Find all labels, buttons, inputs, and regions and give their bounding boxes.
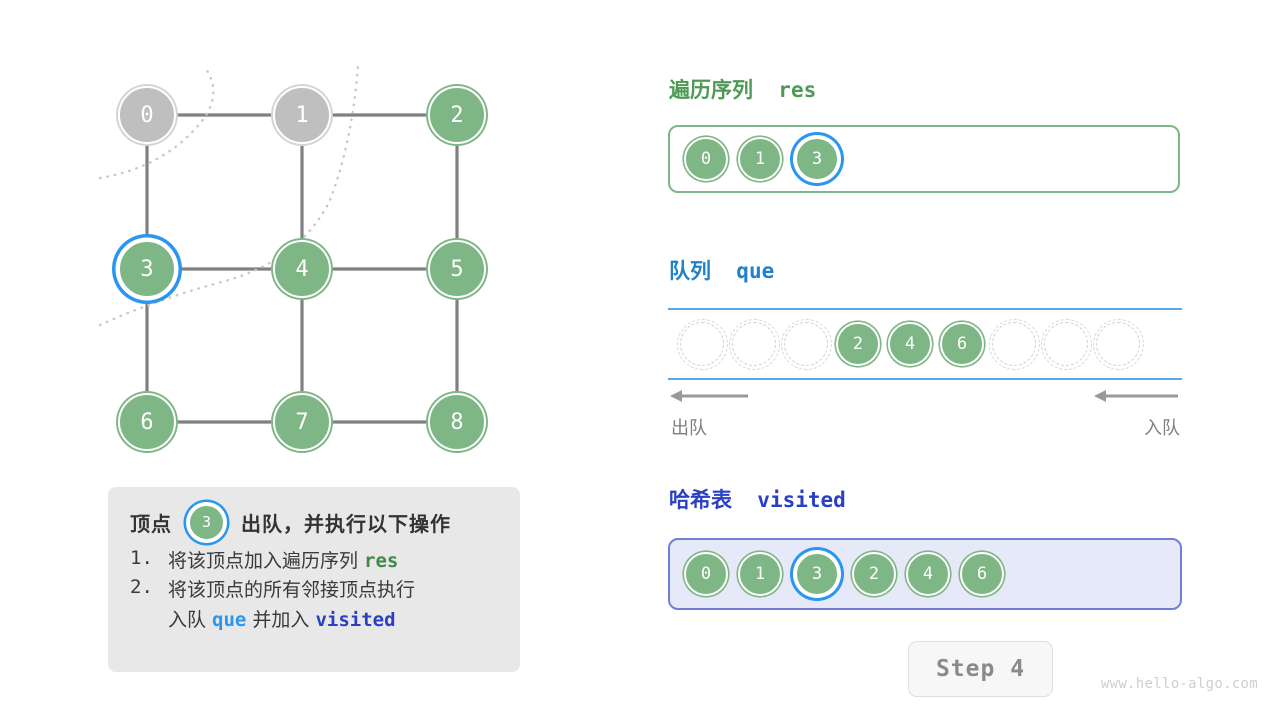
enqueue-arrow-icon (1092, 386, 1182, 406)
queue-slot-7 (1044, 322, 1088, 366)
res-title-cn: 遍历序列 (669, 78, 753, 102)
graph-panel: 012345678 (0, 0, 620, 500)
caption-step-1-number: 1. (130, 547, 168, 576)
code-token-res: res (364, 550, 398, 572)
caption-step-2-line2-a: 入队 (168, 609, 212, 631)
caption-step-2-text: 将该顶点的所有邻接顶点执行入队 que 并加入 visited (168, 576, 415, 635)
visited-title-code-text: visited (757, 488, 846, 512)
visited-title-gap (732, 488, 757, 512)
visited-item-3: 2 (852, 552, 896, 596)
graph-node-6[interactable]: 6 (118, 393, 176, 451)
queue-slot-0 (680, 322, 724, 366)
res-section-title: 遍历序列 res (669, 74, 816, 104)
caption-step-2-number: 2. (130, 576, 168, 635)
graph-node-5[interactable]: 5 (428, 240, 486, 298)
visited-item-4: 4 (906, 552, 950, 596)
queue-slot-2 (784, 322, 828, 366)
graph-node-4[interactable]: 4 (273, 240, 331, 298)
graph-node-1[interactable]: 1 (273, 86, 331, 144)
queue-direction-arrows (668, 386, 1182, 406)
res-item-1: 1 (738, 137, 782, 181)
operation-caption-box: 顶点 3 出队，并执行以下操作 1. 将该顶点加入遍历序列 res 2. 将该顶… (108, 487, 520, 672)
visited-item-2: 3 (795, 552, 839, 596)
graph-node-7[interactable]: 7 (273, 393, 331, 451)
caption-step-1-body: 将该顶点加入遍历序列 (168, 550, 364, 572)
res-item-0: 0 (684, 137, 728, 181)
queue-slot-6 (992, 322, 1036, 366)
graph-node-8[interactable]: 8 (428, 393, 486, 451)
visited-item-5: 6 (960, 552, 1004, 596)
dequeue-arrow-icon (668, 386, 758, 406)
visited-item-1: 1 (738, 552, 782, 596)
visited-title-cn: 哈希表 (669, 488, 732, 512)
state-panel: 遍历序列 res 013 队列 que 246 出队 入队 哈希表 visite… (665, 0, 1280, 720)
caption-node-badge: 3 (188, 504, 225, 541)
visited-item-0: 0 (684, 552, 728, 596)
code-token-que: que (212, 609, 246, 631)
caption-step-2-body: 将该顶点的所有邻接顶点执行 (168, 579, 415, 601)
queue-slot-1 (732, 322, 776, 366)
queue-slot-4: 4 (888, 322, 932, 366)
queue-section-title: 队列 que (669, 255, 774, 285)
caption-step-1: 1. 将该顶点加入遍历序列 res (130, 547, 500, 576)
enqueue-label: 入队 (1144, 414, 1180, 440)
code-token-visited: visited (315, 609, 395, 631)
visited-section-title: 哈希表 visited (669, 484, 846, 514)
caption-step-2-line2-b: 并加入 (246, 609, 315, 631)
queue-slot-3: 2 (836, 322, 880, 366)
res-container: 013 (668, 125, 1180, 193)
step-badge: Step 4 (908, 641, 1053, 697)
visited-container: 013246 (668, 538, 1182, 610)
graph-node-0[interactable]: 0 (118, 86, 176, 144)
graph-node-2[interactable]: 2 (428, 86, 486, 144)
watermark: www.hello-algo.com (1101, 676, 1258, 692)
queue-slot-5: 6 (940, 322, 984, 366)
res-title-code-text: res (778, 78, 816, 102)
caption-step-2: 2. 将该顶点的所有邻接顶点执行入队 que 并加入 visited (130, 576, 500, 635)
queue-title-code-text: que (736, 259, 774, 283)
queue-title-cn: 队列 (669, 259, 711, 283)
res-title-code (753, 78, 778, 102)
dequeue-label: 出队 (671, 414, 707, 440)
queue-title-gap (711, 259, 736, 283)
queue-container: 246 (668, 308, 1182, 380)
caption-suffix: 出队，并执行以下操作 (241, 508, 451, 537)
queue-slot-8 (1096, 322, 1140, 366)
graph-node-3[interactable]: 3 (118, 240, 176, 298)
caption-step-1-text: 将该顶点加入遍历序列 res (168, 547, 398, 576)
caption-headline: 顶点 3 出队，并执行以下操作 (130, 503, 500, 541)
caption-step-list: 1. 将该顶点加入遍历序列 res 2. 将该顶点的所有邻接顶点执行入队 que… (130, 547, 500, 635)
caption-prefix: 顶点 (130, 508, 172, 537)
res-item-2: 3 (795, 137, 839, 181)
